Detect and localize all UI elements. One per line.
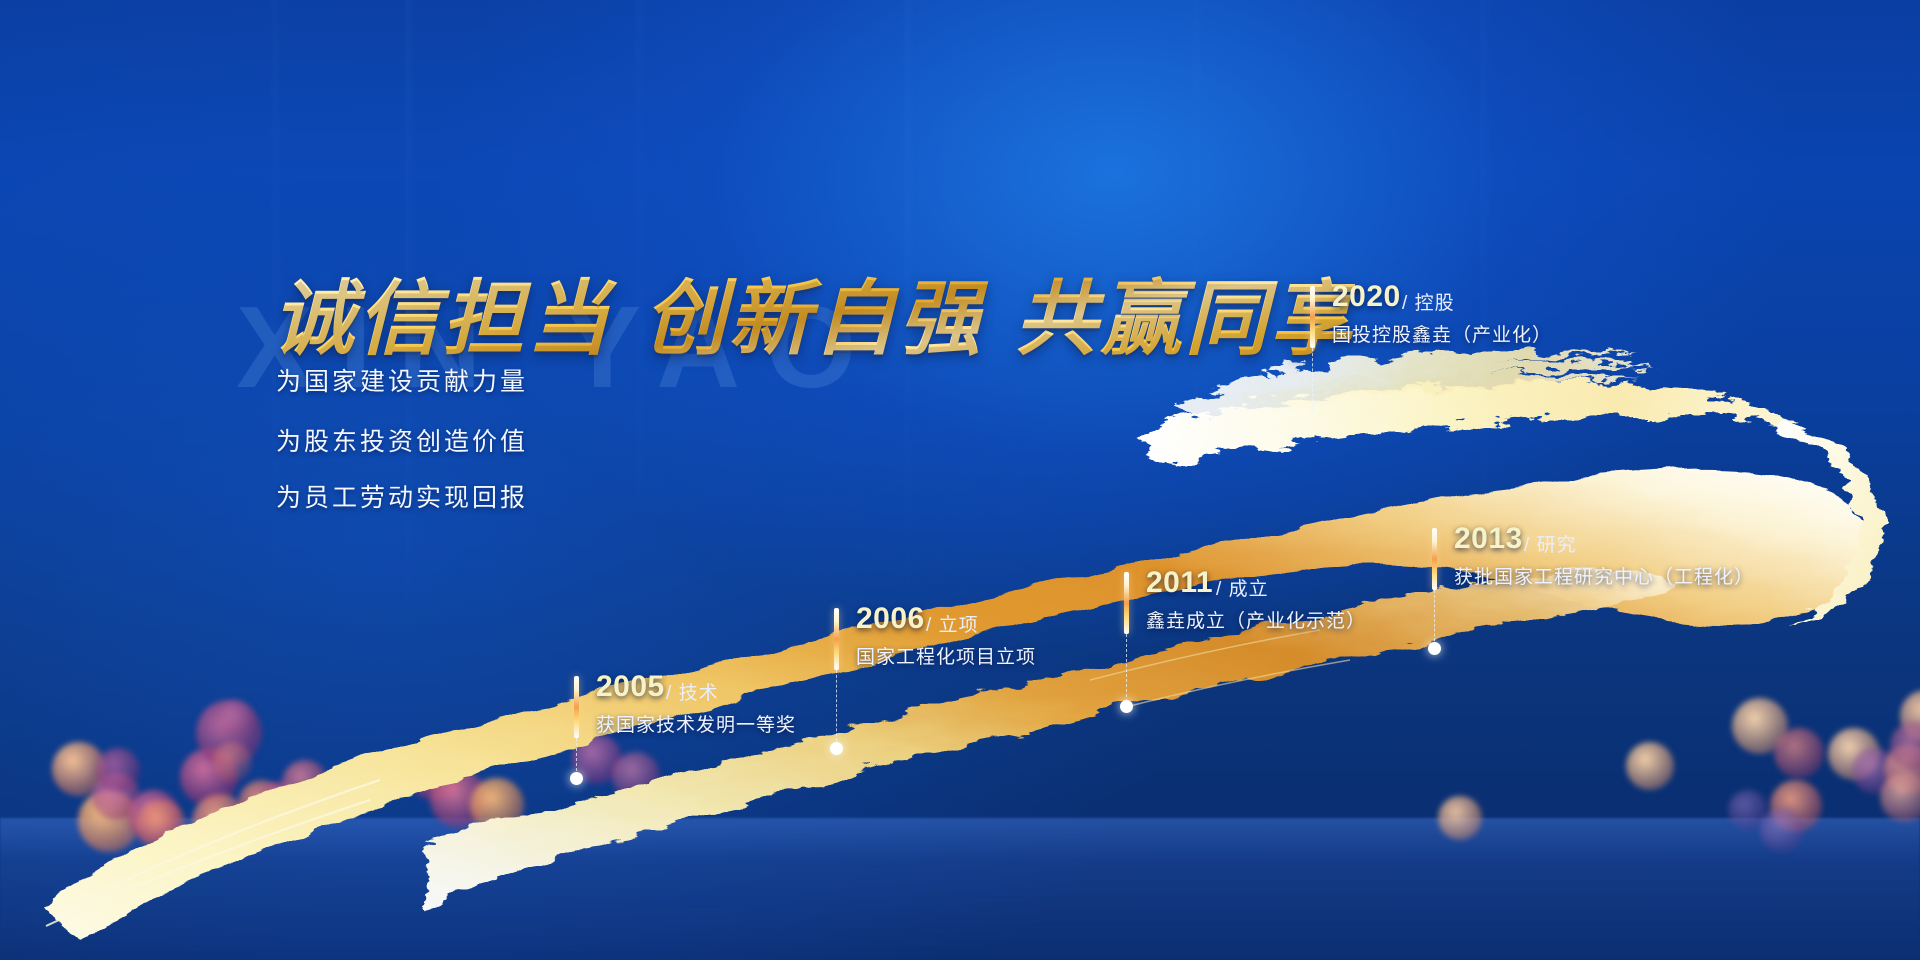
milestone-separator: / bbox=[1402, 293, 1408, 314]
milestone-separator: / bbox=[1524, 535, 1530, 556]
milestone-separator: / bbox=[926, 615, 932, 636]
milestone-description: 获国家技术发明一等奖 bbox=[596, 710, 796, 737]
milestone-dot bbox=[830, 742, 843, 755]
subtitle-line-2: 为股东投资创造价值 bbox=[276, 422, 528, 458]
bokeh-circle bbox=[1760, 808, 1804, 852]
milestone-separator: / bbox=[1216, 579, 1222, 600]
milestone-tick-bar bbox=[834, 608, 839, 670]
milestone-leader-line bbox=[1434, 590, 1435, 646]
milestone-category: / 研究 bbox=[1524, 530, 1577, 557]
milestone-description: 获批国家工程研究中心（工程化） bbox=[1454, 562, 1754, 589]
milestone-category: / 成立 bbox=[1216, 574, 1269, 601]
bokeh-circle bbox=[218, 700, 254, 736]
milestone-leader-line bbox=[576, 738, 577, 776]
bokeh-circle bbox=[470, 778, 524, 832]
milestone-description: 国家工程化项目立项 bbox=[856, 642, 1036, 669]
bokeh-circle bbox=[612, 752, 660, 800]
milestone-category: / 立项 bbox=[926, 610, 979, 637]
horizon-band-decoration bbox=[0, 818, 1920, 960]
milestone-year: 2013 bbox=[1454, 522, 1523, 556]
milestone-dot bbox=[570, 772, 583, 785]
bokeh-circle bbox=[1438, 796, 1482, 840]
milestone-dot bbox=[1120, 700, 1133, 713]
milestone-category-label: 立项 bbox=[939, 615, 979, 636]
bokeh-circle bbox=[212, 742, 252, 782]
page-title: 诚信担当 创新自强 共赢同享 bbox=[272, 252, 1355, 371]
subtitle-line-1: 为国家建设贡献力量 bbox=[276, 362, 528, 398]
milestone-tick-bar bbox=[1124, 572, 1129, 634]
milestone-description: 国投控股鑫垚（产业化） bbox=[1332, 320, 1552, 347]
milestone-year: 2005 bbox=[596, 670, 665, 704]
milestone-year: 2020 bbox=[1332, 280, 1401, 314]
milestone-year: 2006 bbox=[856, 602, 925, 636]
milestone-category-label: 控股 bbox=[1415, 293, 1455, 314]
milestone-leader-line bbox=[836, 670, 837, 746]
milestone-year: 2011 bbox=[1146, 566, 1213, 600]
bokeh-circle bbox=[1626, 742, 1674, 790]
milestone-dot bbox=[1428, 642, 1441, 655]
milestone-tick-bar bbox=[1310, 286, 1315, 348]
subtitle-line-3: 为员工劳动实现回报 bbox=[276, 478, 528, 514]
milestone-tick-bar bbox=[574, 676, 579, 738]
milestone-category-label: 研究 bbox=[1537, 535, 1577, 556]
bokeh-circle bbox=[136, 800, 186, 850]
bokeh-circle bbox=[96, 748, 140, 792]
milestone-category: / 控股 bbox=[1402, 288, 1455, 315]
milestone-leader-line bbox=[1126, 634, 1127, 702]
bokeh-circle bbox=[1880, 772, 1920, 822]
milestone-category: / 技术 bbox=[666, 678, 719, 705]
milestone-description: 鑫垚成立（产业化示范） bbox=[1146, 606, 1366, 633]
milestone-leader-line bbox=[1312, 348, 1313, 412]
bokeh-circle bbox=[1774, 728, 1824, 778]
milestone-category-label: 成立 bbox=[1229, 579, 1269, 600]
milestone-category-label: 技术 bbox=[679, 683, 719, 704]
milestone-tick-bar bbox=[1432, 528, 1437, 590]
banner-stage: XIN YAO 诚信担当 创新自强 共赢同享 为国家建设贡献力量 为股东投资创造… bbox=[0, 0, 1920, 960]
milestone-separator: / bbox=[666, 683, 672, 704]
bokeh-circle bbox=[282, 760, 328, 806]
